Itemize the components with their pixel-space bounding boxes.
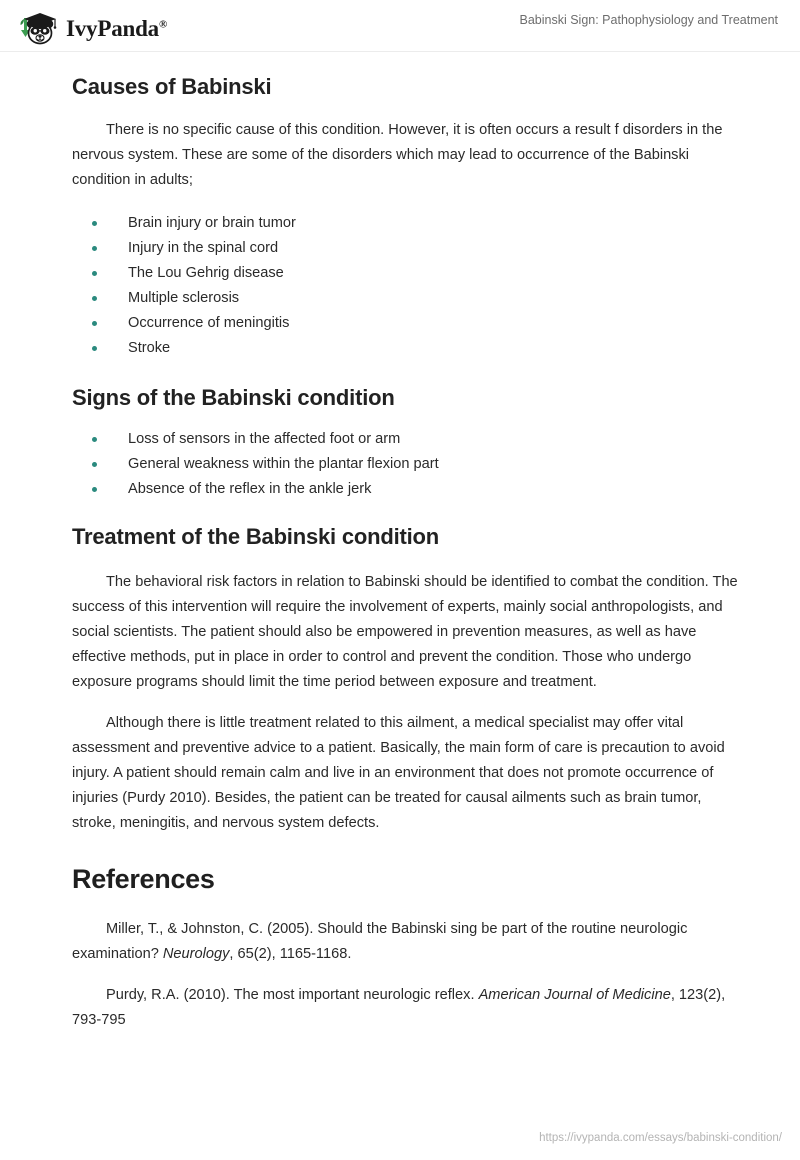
panda-graduate-icon [14,8,60,48]
list-item: Stroke [72,336,738,361]
source-url-link[interactable]: https://ivypanda.com/essays/babinski-con… [539,1132,782,1144]
list-item: Absence of the reflex in the ankle jerk [72,477,738,502]
document-title: Babinski Sign: Pathophysiology and Treat… [520,13,779,27]
reference-entry: Miller, T., & Johnston, C. (2005). Shoul… [72,917,738,967]
heading-signs: Signs of the Babinski condition [72,385,738,411]
paragraph-causes-intro: There is no specific cause of this condi… [72,118,738,193]
document-body: Causes of Babinski There is no specific … [0,52,800,1033]
list-item: Brain injury or brain tumor [72,211,738,236]
reference-text-after: , 65(2), 1165-1168. [229,946,351,962]
list-item: Multiple sclerosis [72,286,738,311]
heading-causes: Causes of Babinski [72,74,738,100]
page-footer: https://ivypanda.com/essays/babinski-con… [0,1128,800,1146]
reference-text-before: Purdy, R.A. (2010). The most important n… [106,987,479,1003]
paragraph-treatment-1: The behavioral risk factors in relation … [72,570,738,695]
paragraph-treatment-2: Although there is little treatment relat… [72,711,738,836]
heading-treatment: Treatment of the Babinski condition [72,524,738,550]
registered-mark: ® [159,18,167,30]
list-causes: Brain injury or brain tumor Injury in th… [72,211,738,361]
reference-journal-title: American Journal of Medicine [479,987,671,1003]
brand-name-text: IvyPanda [66,16,159,41]
reference-journal-title: Neurology [163,946,230,962]
list-signs: Loss of sensors in the affected foot or … [72,427,738,502]
page-header: IvyPanda® Babinski Sign: Pathophysiology… [0,0,800,52]
heading-references: References [72,864,738,895]
list-item: Injury in the spinal cord [72,236,738,261]
brand-name: IvyPanda® [66,17,167,40]
list-item: General weakness within the plantar flex… [72,452,738,477]
reference-entry: Purdy, R.A. (2010). The most important n… [72,983,738,1033]
list-item: The Lou Gehrig disease [72,261,738,286]
brand-logo[interactable]: IvyPanda® [14,8,167,48]
list-item: Occurrence of meningitis [72,311,738,336]
list-item: Loss of sensors in the affected foot or … [72,427,738,452]
